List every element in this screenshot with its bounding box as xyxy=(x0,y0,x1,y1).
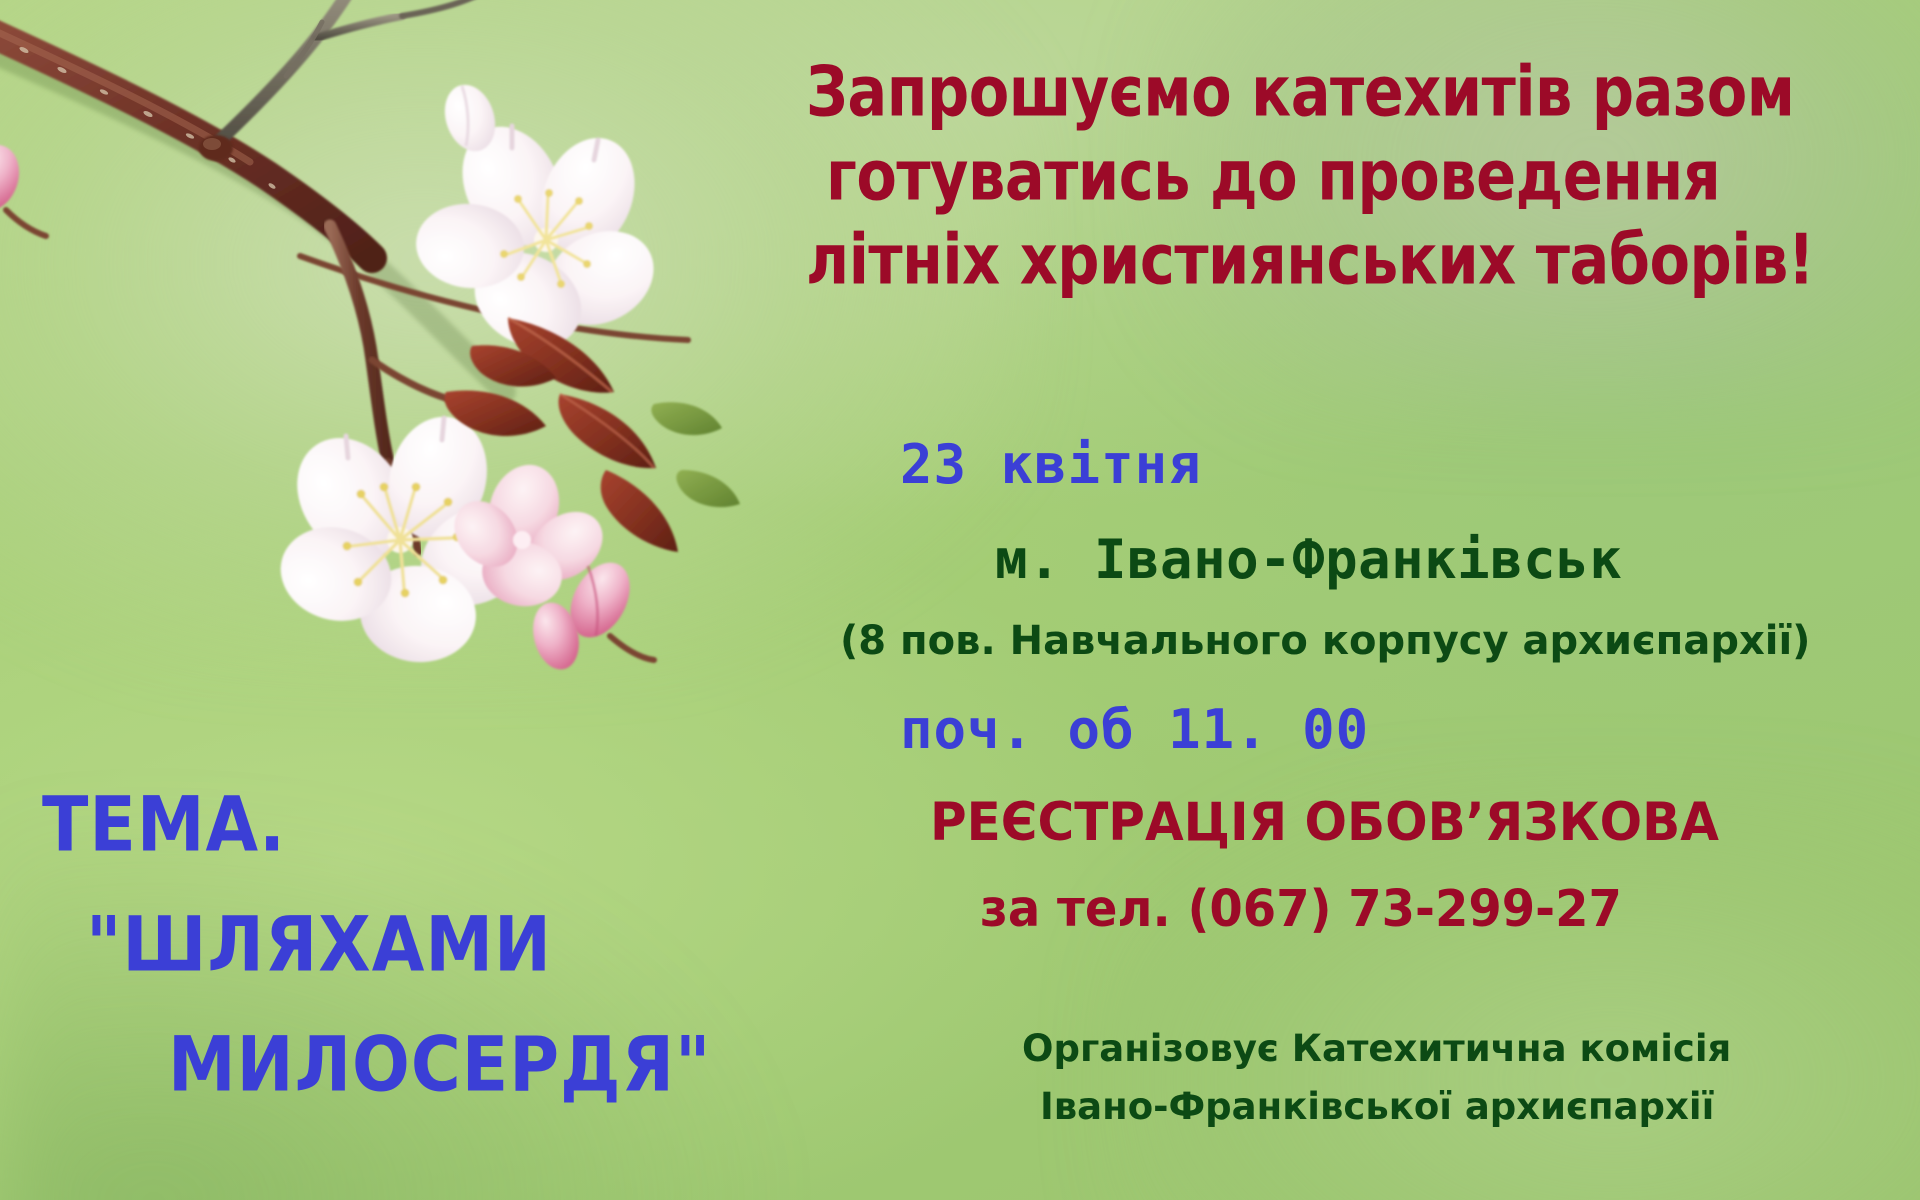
event-date: 23 квітня xyxy=(900,438,1202,492)
event-time: поч. об 11. 00 xyxy=(900,703,1369,757)
organizer-line-2: Івано-Франківської архиєпархії xyxy=(1040,1088,1714,1125)
event-poster: Запрошуємо катехитів разом готуватись до… xyxy=(0,0,1920,1200)
event-city: м. Івано-Франківськ xyxy=(995,533,1622,587)
registration-notice: РЕЄСТРАЦІЯ ОБОВ’ЯЗКОВА xyxy=(930,796,1719,849)
event-venue: (8 пов. Навчального корпусу архиєпархії) xyxy=(840,621,1810,661)
organizer-line-1: Організовує Катехитична комісія xyxy=(1022,1030,1731,1067)
background-haze-bottom-right xyxy=(1114,792,1920,1200)
headline-line-1: Запрошуємо катехитів разом xyxy=(806,57,1795,127)
headline-line-3: літніх християнських таборів! xyxy=(806,225,1814,295)
theme-title-line-1: "ШЛЯХАМИ xyxy=(86,908,552,984)
theme-label: ТЕМА. xyxy=(42,788,286,864)
background-shadow-corner xyxy=(0,816,768,1200)
registration-phone: за тел. (067) 73-299-27 xyxy=(980,884,1622,935)
theme-title-line-2: МИЛОСЕРДЯ" xyxy=(168,1028,711,1104)
headline-line-2: готуватись до проведення xyxy=(826,141,1720,211)
